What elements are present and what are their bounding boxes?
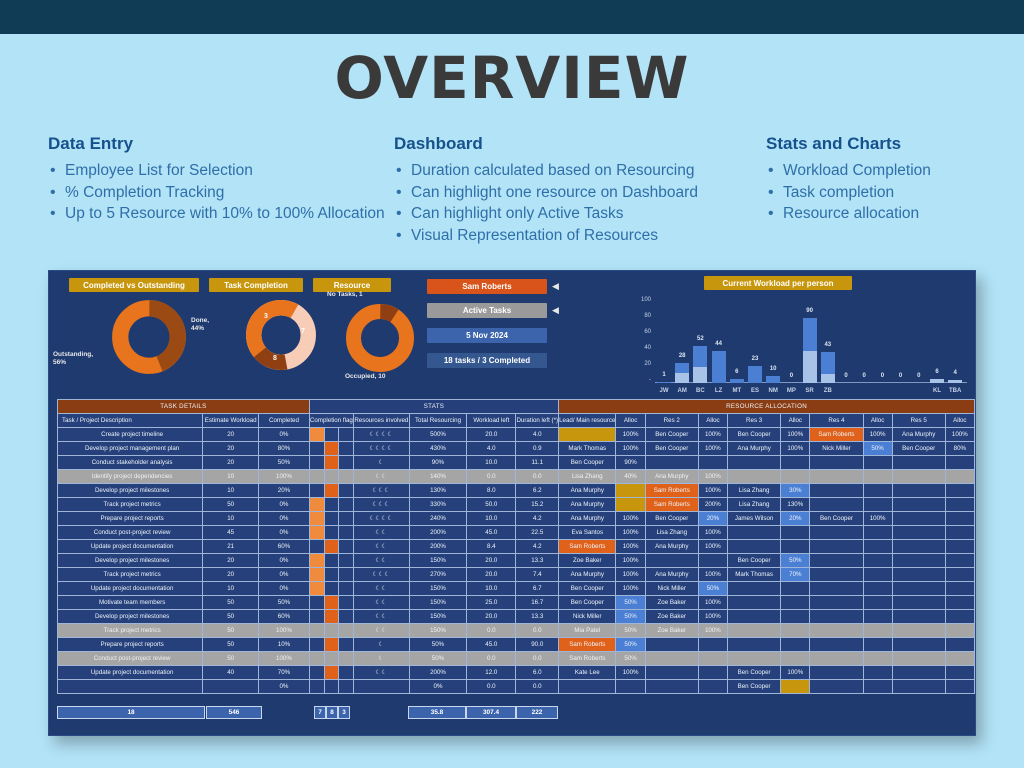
cell-resources-involved[interactable]: ☾☾☾☾: [353, 512, 409, 526]
cell-estimate-workload[interactable]: 10: [203, 470, 259, 484]
cell-total-resourcing[interactable]: 50%: [409, 638, 466, 652]
cell-total-resourcing[interactable]: 50%: [409, 652, 466, 666]
cell-resource-3[interactable]: [728, 540, 781, 554]
cell-estimate-workload[interactable]: 10: [203, 512, 259, 526]
cell-alloc-4[interactable]: [863, 624, 892, 638]
table-row[interactable]: Develop project milestones1020%☾☾☾130%8.…: [58, 484, 975, 498]
table-row[interactable]: Track project metrics50100%☾☾150%0.00.0M…: [58, 624, 975, 638]
cell-resources-involved[interactable]: ☾☾: [353, 666, 409, 680]
cell-flag-a[interactable]: [309, 624, 324, 638]
cell-alloc-2[interactable]: 100%: [698, 610, 727, 624]
cell-alloc-2[interactable]: 50%: [698, 582, 727, 596]
cell-task-description[interactable]: Identify project dependencies: [58, 470, 203, 484]
cell-resource-1[interactable]: Sam Roberts: [559, 638, 616, 652]
cell-resource-3[interactable]: Lisa Zhang: [728, 484, 781, 498]
cell-alloc-5[interactable]: [945, 638, 974, 652]
cell-alloc-5[interactable]: [945, 456, 974, 470]
cell-duration-left[interactable]: 13.3: [516, 610, 559, 624]
cell-alloc-5[interactable]: [945, 498, 974, 512]
cell-alloc-5[interactable]: [945, 582, 974, 596]
cell-duration-left[interactable]: 4.2: [516, 512, 559, 526]
cell-resource-1[interactable]: [559, 680, 616, 694]
cell-estimate-workload[interactable]: 20: [203, 456, 259, 470]
cell-completed[interactable]: 10%: [259, 638, 310, 652]
cell-flag-b[interactable]: [324, 526, 339, 540]
cell-duration-left[interactable]: 15.2: [516, 498, 559, 512]
cell-resource-2[interactable]: [645, 666, 698, 680]
cell-estimate-workload[interactable]: 20: [203, 568, 259, 582]
cell-resource-5[interactable]: [892, 596, 945, 610]
cell-duration-left[interactable]: 6.0: [516, 666, 559, 680]
cell-alloc-2[interactable]: [698, 638, 727, 652]
cell-resource-2[interactable]: Zoe Baker: [645, 610, 698, 624]
table-row[interactable]: Prepare project reports100%☾☾☾☾240%10.04…: [58, 512, 975, 526]
cell-flag-b[interactable]: [324, 498, 339, 512]
cell-duration-left[interactable]: 4.0: [516, 428, 559, 442]
cell-alloc-2[interactable]: 100%: [698, 540, 727, 554]
cell-resource-2[interactable]: Zoe Baker: [645, 596, 698, 610]
cell-resource-4[interactable]: [810, 540, 863, 554]
table-body[interactable]: Create project timeline200%☾☾☾☾500%20.04…: [58, 428, 975, 694]
cell-completed[interactable]: 100%: [259, 652, 310, 666]
cell-resource-3[interactable]: [728, 624, 781, 638]
cell-resource-4[interactable]: [810, 470, 863, 484]
cell-alloc-3[interactable]: 130%: [781, 498, 810, 512]
cell-alloc-5[interactable]: [945, 652, 974, 666]
cell-alloc-1[interactable]: 50%: [616, 624, 645, 638]
cell-flag-b[interactable]: [324, 666, 339, 680]
table-row[interactable]: Conduct stakeholder analysis2050%☾90%10.…: [58, 456, 975, 470]
cell-flag-a[interactable]: [309, 666, 324, 680]
cell-alloc-4[interactable]: 100%: [863, 428, 892, 442]
cell-resource-3[interactable]: [728, 582, 781, 596]
cell-flag-b[interactable]: [324, 484, 339, 498]
cell-flag-a[interactable]: [309, 428, 324, 442]
cell-duration-left[interactable]: 16.7: [516, 596, 559, 610]
cell-alloc-3[interactable]: [781, 582, 810, 596]
cell-alloc-2[interactable]: 100%: [698, 442, 727, 456]
filter-tasks-button[interactable]: Active Tasks: [427, 303, 547, 318]
cell-resource-5[interactable]: [892, 498, 945, 512]
cell-flag-a[interactable]: [309, 456, 324, 470]
cell-resource-2[interactable]: [645, 638, 698, 652]
cell-resources-involved[interactable]: ☾☾: [353, 526, 409, 540]
cell-alloc-4[interactable]: [863, 596, 892, 610]
cell-resources-involved[interactable]: ☾☾: [353, 624, 409, 638]
cell-resources-involved[interactable]: ☾☾: [353, 554, 409, 568]
cell-task-description[interactable]: Update project documentation: [58, 582, 203, 596]
cell-workload-left[interactable]: 25.0: [467, 596, 516, 610]
cell-resource-5[interactable]: [892, 652, 945, 666]
table-row[interactable]: 0%0%0.00.0Ben Cooper: [58, 680, 975, 694]
cell-resource-1[interactable]: Mark Thomas: [559, 442, 616, 456]
cell-flag-c[interactable]: [339, 470, 354, 484]
cell-duration-left[interactable]: 6.2: [516, 484, 559, 498]
cell-estimate-workload[interactable]: [203, 680, 259, 694]
cell-workload-left[interactable]: 50.0: [467, 498, 516, 512]
cell-flag-b[interactable]: [324, 512, 339, 526]
cell-resource-4[interactable]: [810, 596, 863, 610]
cell-resource-2[interactable]: Ana Murphy: [645, 540, 698, 554]
cell-workload-left[interactable]: 45.0: [467, 526, 516, 540]
cell-resource-1[interactable]: Ana Murphy: [559, 498, 616, 512]
cell-total-resourcing[interactable]: 150%: [409, 596, 466, 610]
cell-resources-involved[interactable]: ☾☾: [353, 582, 409, 596]
cell-alloc-2[interactable]: [698, 666, 727, 680]
cell-resource-3[interactable]: Lisa Zhang: [728, 498, 781, 512]
cell-completed[interactable]: 60%: [259, 610, 310, 624]
cell-flag-a[interactable]: [309, 470, 324, 484]
cell-resource-1[interactable]: Eva Santos: [559, 526, 616, 540]
cell-total-resourcing[interactable]: 200%: [409, 526, 466, 540]
cell-completed[interactable]: 0%: [259, 512, 310, 526]
cell-alloc-1[interactable]: 100%: [616, 512, 645, 526]
cell-workload-left[interactable]: 0.0: [467, 470, 516, 484]
cell-resource-4[interactable]: [810, 484, 863, 498]
cell-alloc-3[interactable]: 20%: [781, 512, 810, 526]
cell-resource-3[interactable]: Mark Thomas: [728, 568, 781, 582]
cell-workload-left[interactable]: 20.0: [467, 554, 516, 568]
cell-completed[interactable]: 20%: [259, 484, 310, 498]
cell-task-description[interactable]: Update project documentation: [58, 666, 203, 680]
cell-alloc-3[interactable]: [781, 638, 810, 652]
cell-resource-1[interactable]: Ana Murphy: [559, 512, 616, 526]
cell-workload-left[interactable]: 10.0: [467, 512, 516, 526]
cell-total-resourcing[interactable]: 240%: [409, 512, 466, 526]
cell-flag-a[interactable]: [309, 484, 324, 498]
cell-alloc-3[interactable]: [781, 652, 810, 666]
cell-alloc-1[interactable]: 100%: [616, 540, 645, 554]
table-row[interactable]: Develop project milestones5060%☾☾150%20.…: [58, 610, 975, 624]
cell-resource-5[interactable]: [892, 554, 945, 568]
cell-task-description[interactable]: Develop project management plan: [58, 442, 203, 456]
cell-completed[interactable]: 0%: [259, 554, 310, 568]
cell-alloc-1[interactable]: 100%: [616, 568, 645, 582]
cell-alloc-2[interactable]: 100%: [698, 624, 727, 638]
cell-duration-left[interactable]: 11.1: [516, 456, 559, 470]
cell-resource-2[interactable]: Zoe Baker: [645, 624, 698, 638]
cell-alloc-5[interactable]: [945, 596, 974, 610]
cell-estimate-workload[interactable]: 20: [203, 554, 259, 568]
cell-resources-involved[interactable]: ☾☾: [353, 610, 409, 624]
cell-resource-4[interactable]: [810, 624, 863, 638]
cell-estimate-workload[interactable]: 40: [203, 666, 259, 680]
cell-alloc-2[interactable]: 20%: [698, 512, 727, 526]
cell-resource-4[interactable]: [810, 456, 863, 470]
cell-flag-c[interactable]: [339, 526, 354, 540]
cell-total-resourcing[interactable]: 200%: [409, 540, 466, 554]
cell-resource-5[interactable]: [892, 470, 945, 484]
cell-resource-4[interactable]: [810, 582, 863, 596]
cell-task-description[interactable]: Track project metrics: [58, 498, 203, 512]
cell-alloc-5[interactable]: [945, 624, 974, 638]
cell-total-resourcing[interactable]: 130%: [409, 484, 466, 498]
date-display[interactable]: 5 Nov 2024: [427, 328, 547, 343]
cell-resource-5[interactable]: [892, 526, 945, 540]
cell-alloc-5[interactable]: [945, 568, 974, 582]
cell-completed[interactable]: 0%: [259, 526, 310, 540]
cell-flag-c[interactable]: [339, 624, 354, 638]
cell-resources-involved[interactable]: ☾: [353, 638, 409, 652]
cell-alloc-4[interactable]: [863, 610, 892, 624]
cell-flag-b[interactable]: [324, 470, 339, 484]
cell-flag-b[interactable]: [324, 456, 339, 470]
cell-alloc-5[interactable]: [945, 526, 974, 540]
cell-duration-left[interactable]: 6.7: [516, 582, 559, 596]
cell-resource-4[interactable]: [810, 610, 863, 624]
cell-total-resourcing[interactable]: 500%: [409, 428, 466, 442]
cell-workload-left[interactable]: 20.0: [467, 428, 516, 442]
cell-total-resourcing[interactable]: 150%: [409, 624, 466, 638]
cell-resource-1[interactable]: Sam Roberts: [559, 652, 616, 666]
cell-alloc-5[interactable]: [945, 666, 974, 680]
cell-task-description[interactable]: Motivate team members: [58, 596, 203, 610]
cell-flag-b[interactable]: [324, 596, 339, 610]
table-row[interactable]: Track project metrics200%☾☾☾270%20.07.4A…: [58, 568, 975, 582]
cell-resource-5[interactable]: [892, 540, 945, 554]
cell-resource-2[interactable]: Sam Roberts: [645, 498, 698, 512]
cell-resources-involved[interactable]: ☾☾: [353, 540, 409, 554]
cell-alloc-1[interactable]: 40%: [616, 470, 645, 484]
cell-alloc-4[interactable]: [863, 568, 892, 582]
cell-resource-5[interactable]: Ana Murphy: [892, 428, 945, 442]
cell-alloc-5[interactable]: [945, 470, 974, 484]
cell-total-resourcing[interactable]: 0%: [409, 680, 466, 694]
cell-flag-c[interactable]: [339, 680, 354, 694]
cell-resource-1[interactable]: Mia Patel: [559, 624, 616, 638]
cell-resource-5[interactable]: [892, 666, 945, 680]
cell-task-description[interactable]: Create project timeline: [58, 428, 203, 442]
cell-estimate-workload[interactable]: 21: [203, 540, 259, 554]
cell-flag-a[interactable]: [309, 652, 324, 666]
cell-flag-b[interactable]: [324, 568, 339, 582]
cell-alloc-3[interactable]: 100%: [781, 428, 810, 442]
cell-flag-a[interactable]: [309, 554, 324, 568]
cell-resources-involved[interactable]: ☾: [353, 456, 409, 470]
cell-flag-c[interactable]: [339, 456, 354, 470]
cell-flag-b[interactable]: [324, 652, 339, 666]
cell-alloc-3[interactable]: 50%: [781, 554, 810, 568]
filter-resource-button[interactable]: Sam Roberts: [427, 279, 547, 294]
cell-task-description[interactable]: Conduct stakeholder analysis: [58, 456, 203, 470]
cell-alloc-5[interactable]: [945, 680, 974, 694]
cell-flag-b[interactable]: [324, 624, 339, 638]
cell-resources-involved[interactable]: ☾☾: [353, 470, 409, 484]
cell-workload-left[interactable]: 12.0: [467, 666, 516, 680]
cell-total-resourcing[interactable]: 150%: [409, 610, 466, 624]
cell-task-description[interactable]: Prepare project reports: [58, 638, 203, 652]
cell-alloc-1[interactable]: [616, 498, 645, 512]
cell-resource-4[interactable]: [810, 680, 863, 694]
cell-alloc-3[interactable]: 100%: [781, 666, 810, 680]
cell-resource-3[interactable]: [728, 470, 781, 484]
cell-alloc-2[interactable]: [698, 680, 727, 694]
cell-resource-3[interactable]: [728, 652, 781, 666]
cell-task-description[interactable]: Prepare project reports: [58, 512, 203, 526]
cell-resources-involved[interactable]: ☾☾☾☾: [353, 442, 409, 456]
cell-workload-left[interactable]: 20.0: [467, 610, 516, 624]
cell-duration-left[interactable]: 13.3: [516, 554, 559, 568]
cell-resource-2[interactable]: Ana Murphy: [645, 568, 698, 582]
cell-alloc-1[interactable]: 100%: [616, 526, 645, 540]
cell-alloc-2[interactable]: 100%: [698, 428, 727, 442]
cell-estimate-workload[interactable]: 10: [203, 582, 259, 596]
cell-alloc-2[interactable]: 100%: [698, 470, 727, 484]
table-row[interactable]: Identify project dependencies10100%☾☾140…: [58, 470, 975, 484]
cell-duration-left[interactable]: 0.0: [516, 680, 559, 694]
cell-task-description[interactable]: Develop project milestones: [58, 554, 203, 568]
cell-resource-1[interactable]: Lisa Zhang: [559, 470, 616, 484]
cell-completed[interactable]: 50%: [259, 596, 310, 610]
cell-estimate-workload[interactable]: 50: [203, 652, 259, 666]
cell-duration-left[interactable]: 7.4: [516, 568, 559, 582]
cell-resource-5[interactable]: [892, 568, 945, 582]
cell-resource-2[interactable]: Nick Miller: [645, 582, 698, 596]
cell-resource-2[interactable]: Ben Cooper: [645, 428, 698, 442]
cell-resource-1[interactable]: [559, 428, 616, 442]
cell-completed[interactable]: 50%: [259, 456, 310, 470]
cell-task-description[interactable]: Track project metrics: [58, 568, 203, 582]
tag-resource[interactable]: Resource: [313, 278, 391, 292]
cell-alloc-4[interactable]: [863, 470, 892, 484]
cell-flag-b[interactable]: [324, 554, 339, 568]
cell-resource-1[interactable]: Ben Cooper: [559, 596, 616, 610]
cell-alloc-4[interactable]: [863, 554, 892, 568]
cell-resource-1[interactable]: Ben Cooper: [559, 456, 616, 470]
cell-resource-3[interactable]: James Wilson: [728, 512, 781, 526]
cell-task-description[interactable]: Conduct post-project review: [58, 652, 203, 666]
cell-alloc-1[interactable]: 100%: [616, 442, 645, 456]
cell-completed[interactable]: 0%: [259, 568, 310, 582]
cell-resource-2[interactable]: [645, 652, 698, 666]
cell-alloc-5[interactable]: [945, 512, 974, 526]
table-row[interactable]: Update project documentation4070%☾☾200%1…: [58, 666, 975, 680]
cell-resources-involved[interactable]: ☾☾☾☾: [353, 428, 409, 442]
cell-estimate-workload[interactable]: 20: [203, 442, 259, 456]
cell-resource-1[interactable]: Nick Miller: [559, 610, 616, 624]
cell-flag-b[interactable]: [324, 540, 339, 554]
cell-flag-b[interactable]: [324, 442, 339, 456]
cell-resource-2[interactable]: Ana Murphy: [645, 470, 698, 484]
cell-flag-b[interactable]: [324, 680, 339, 694]
cell-alloc-4[interactable]: [863, 638, 892, 652]
cell-alloc-4[interactable]: 100%: [863, 512, 892, 526]
cell-resource-4[interactable]: [810, 568, 863, 582]
cell-flag-b[interactable]: [324, 582, 339, 596]
cell-resource-3[interactable]: [728, 456, 781, 470]
cell-estimate-workload[interactable]: 50: [203, 610, 259, 624]
cell-workload-left[interactable]: 8.4: [467, 540, 516, 554]
cell-flag-c[interactable]: [339, 652, 354, 666]
cell-resource-2[interactable]: [645, 680, 698, 694]
cell-resource-3[interactable]: Ben Cooper: [728, 666, 781, 680]
cell-alloc-1[interactable]: [616, 484, 645, 498]
table-row[interactable]: Prepare project reports5010%☾50%45.090.0…: [58, 638, 975, 652]
cell-alloc-2[interactable]: [698, 456, 727, 470]
cell-resources-involved[interactable]: ☾: [353, 652, 409, 666]
cell-alloc-1[interactable]: [616, 680, 645, 694]
cell-alloc-3[interactable]: 70%: [781, 568, 810, 582]
cell-alloc-5[interactable]: [945, 610, 974, 624]
cell-task-description[interactable]: Conduct post-project review: [58, 526, 203, 540]
cell-duration-left[interactable]: 0.9: [516, 442, 559, 456]
cell-estimate-workload[interactable]: 50: [203, 498, 259, 512]
cell-alloc-4[interactable]: [863, 540, 892, 554]
cell-resource-2[interactable]: [645, 554, 698, 568]
cell-task-description[interactable]: Develop project milestones: [58, 484, 203, 498]
cell-resource-2[interactable]: Sam Roberts: [645, 484, 698, 498]
cell-resource-4[interactable]: [810, 526, 863, 540]
cell-resource-3[interactable]: [728, 638, 781, 652]
cell-flag-a[interactable]: [309, 596, 324, 610]
table-row[interactable]: Update project documentation2160%☾☾200%8…: [58, 540, 975, 554]
table-row[interactable]: Update project documentation100%☾☾150%10…: [58, 582, 975, 596]
cell-flag-b[interactable]: [324, 610, 339, 624]
cell-alloc-4[interactable]: [863, 680, 892, 694]
cell-estimate-workload[interactable]: 10: [203, 484, 259, 498]
cell-resource-1[interactable]: Ben Cooper: [559, 582, 616, 596]
cell-alloc-2[interactable]: [698, 652, 727, 666]
cell-flag-a[interactable]: [309, 540, 324, 554]
cell-workload-left[interactable]: 10.0: [467, 582, 516, 596]
cell-duration-left[interactable]: 0.0: [516, 624, 559, 638]
cell-estimate-workload[interactable]: 50: [203, 638, 259, 652]
cell-estimate-workload[interactable]: 50: [203, 596, 259, 610]
cell-alloc-2[interactable]: 100%: [698, 526, 727, 540]
table-row[interactable]: Motivate team members5050%☾☾150%25.016.7…: [58, 596, 975, 610]
cell-total-resourcing[interactable]: 270%: [409, 568, 466, 582]
cell-resource-4[interactable]: [810, 638, 863, 652]
cell-resource-4[interactable]: Nick Miller: [810, 442, 863, 456]
cell-resource-4[interactable]: Sam Roberts: [810, 428, 863, 442]
cell-estimate-workload[interactable]: 20: [203, 428, 259, 442]
cell-flag-c[interactable]: [339, 484, 354, 498]
cell-flag-a[interactable]: [309, 638, 324, 652]
cell-total-resourcing[interactable]: 330%: [409, 498, 466, 512]
cell-completed[interactable]: 100%: [259, 470, 310, 484]
project-table[interactable]: TASK DETAILS STATS RESOURCE ALLOCATION T…: [57, 399, 975, 694]
cell-completed[interactable]: 0%: [259, 582, 310, 596]
cell-resources-involved[interactable]: [353, 680, 409, 694]
cell-resource-3[interactable]: Ben Cooper: [728, 428, 781, 442]
cell-total-resourcing[interactable]: 90%: [409, 456, 466, 470]
table-row[interactable]: Develop project milestones200%☾☾150%20.0…: [58, 554, 975, 568]
cell-alloc-3[interactable]: [781, 596, 810, 610]
cell-resource-1[interactable]: Kate Lee: [559, 666, 616, 680]
cell-alloc-2[interactable]: 100%: [698, 484, 727, 498]
cell-workload-left[interactable]: 45.0: [467, 638, 516, 652]
cell-alloc-1[interactable]: 100%: [616, 554, 645, 568]
cell-workload-left[interactable]: 8.0: [467, 484, 516, 498]
cell-resource-5[interactable]: [892, 456, 945, 470]
cell-alloc-3[interactable]: [781, 540, 810, 554]
cell-alloc-5[interactable]: [945, 554, 974, 568]
cell-estimate-workload[interactable]: 45: [203, 526, 259, 540]
cell-total-resourcing[interactable]: 140%: [409, 470, 466, 484]
tag-completed-vs-outstanding[interactable]: Completed vs Outstanding: [69, 278, 199, 292]
cell-alloc-3[interactable]: 30%: [781, 484, 810, 498]
cell-resources-involved[interactable]: ☾☾: [353, 596, 409, 610]
cell-estimate-workload[interactable]: 50: [203, 624, 259, 638]
cell-completed[interactable]: 0%: [259, 428, 310, 442]
cell-resource-3[interactable]: Ben Cooper: [728, 554, 781, 568]
cell-flag-a[interactable]: [309, 568, 324, 582]
cell-alloc-4[interactable]: 50%: [863, 442, 892, 456]
table-row[interactable]: Conduct post-project review50100%☾50%0.0…: [58, 652, 975, 666]
cell-resource-1[interactable]: Zoe Baker: [559, 554, 616, 568]
cell-resource-2[interactable]: [645, 456, 698, 470]
cell-completed[interactable]: 100%: [259, 624, 310, 638]
